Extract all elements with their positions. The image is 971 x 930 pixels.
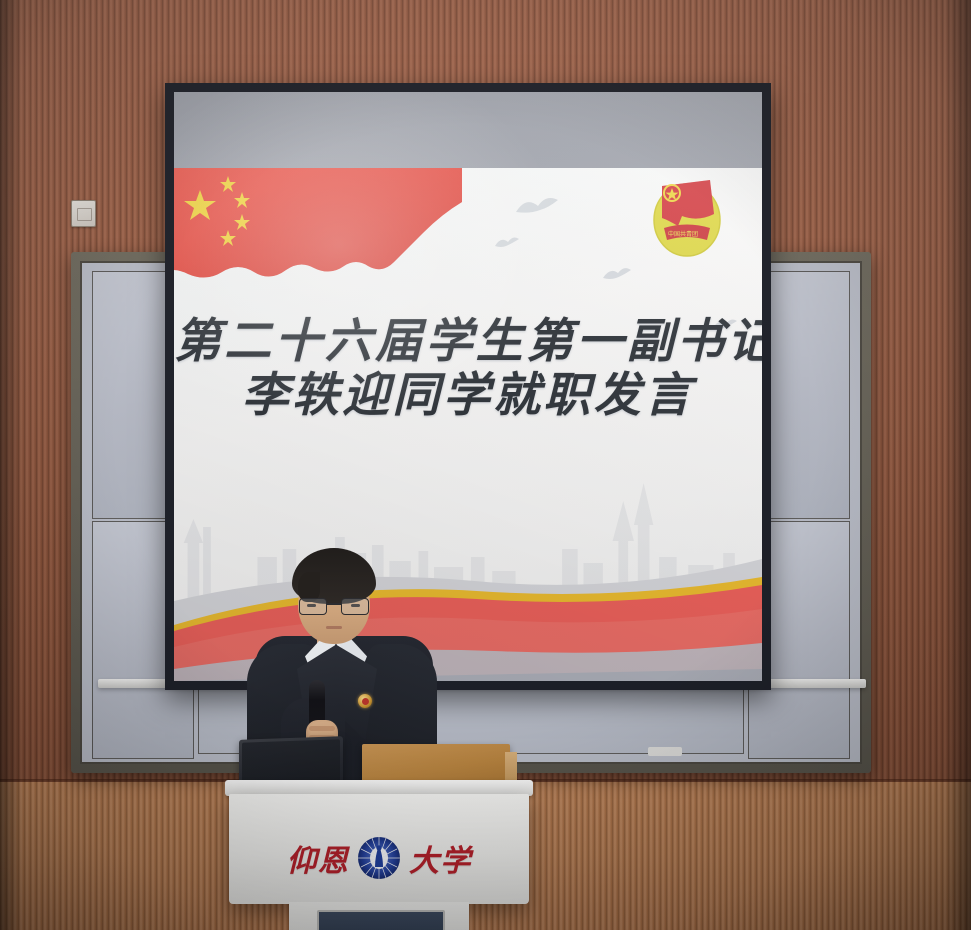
podium-sign: 仰恩 [229, 836, 529, 880]
slide-title-line-2: 李轶迎同学就职发言 [174, 369, 762, 424]
eyeglasses-lens-left [299, 598, 327, 615]
wall-left-shading [0, 0, 22, 930]
wall-right-shading [945, 0, 971, 930]
communist-youth-league-emblem: 中国共青团 [648, 174, 726, 260]
podium-front-panel: 仰恩 [229, 794, 529, 904]
eyeglasses-icon [299, 598, 369, 613]
svg-text:中国共青团: 中国共青团 [668, 230, 698, 238]
yangen-university-logo [357, 836, 401, 880]
dove-silhouette [602, 264, 632, 284]
eyeglasses-lens-right [341, 598, 369, 615]
lapel-badge [358, 694, 372, 708]
speaker-finger [309, 726, 335, 731]
screen-inactive-band [174, 92, 762, 168]
podium-control-screen[interactable] [317, 910, 445, 930]
dove-silhouette [494, 234, 520, 252]
dove-silhouette [514, 192, 560, 222]
wall-power-socket[interactable] [71, 200, 96, 227]
slide-title-line-1: 第二十六届学生第一副书记 [174, 316, 762, 369]
speaker-mouth [326, 626, 342, 629]
photo-scene: 中国共青团 第二十六届学生第一副书记 [0, 0, 971, 930]
slide-title: 第二十六届学生第一副书记 李轶迎同学就职发言 [174, 316, 762, 424]
whiteboard-clip-right[interactable] [648, 747, 682, 756]
chinese-national-flag [174, 168, 462, 294]
podium: 仰恩 [229, 790, 529, 905]
podium-sign-text-right: 大学 [409, 836, 471, 880]
speaker-hair [292, 548, 376, 604]
eyeglasses-bridge [326, 603, 342, 605]
podium-sign-text-left: 仰恩 [287, 836, 349, 880]
